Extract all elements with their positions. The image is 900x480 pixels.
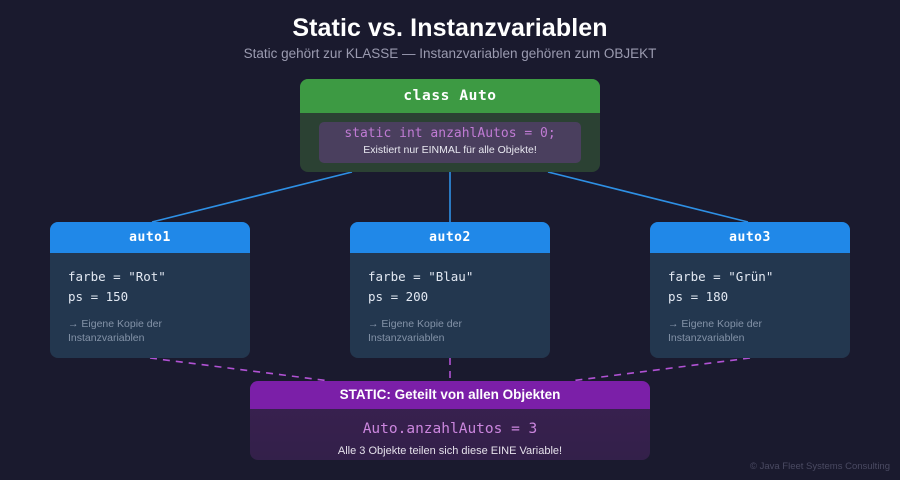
instance-field-farbe: farbe = "Blau" <box>368 267 550 287</box>
shared-static-box: STATIC: Geteilt von allen Objekten Auto.… <box>250 381 650 460</box>
connector-class-to-auto3 <box>548 172 748 222</box>
page-title: Static vs. Instanzvariablen <box>0 14 900 43</box>
instance-note: → Eigene Kopie der Instanzvariablen <box>68 318 218 345</box>
connector-class-to-auto1 <box>152 172 352 222</box>
instance-note: → Eigene Kopie der Instanzvariablen <box>368 318 518 345</box>
class-box: class Auto static int anzahlAutos = 0; E… <box>300 79 600 172</box>
instance-field-farbe: farbe = "Grün" <box>668 267 850 287</box>
instance-field-ps: ps = 180 <box>668 287 850 307</box>
instance-title-auto1: auto1 <box>50 222 250 253</box>
shared-static-title: STATIC: Geteilt von allen Objekten <box>250 381 650 409</box>
instance-field-farbe: farbe = "Rot" <box>68 267 250 287</box>
instance-note: → Eigene Kopie der Instanzvariablen <box>668 318 818 345</box>
instance-title-auto2: auto2 <box>350 222 550 253</box>
shared-static-note: Alle 3 Objekte teilen sich diese EINE Va… <box>250 445 650 457</box>
shared-static-value: Auto.anzahlAutos = 3 <box>250 421 650 437</box>
connector-auto3-to-static <box>570 358 750 381</box>
diagram-canvas: Static vs. Instanzvariablen Static gehör… <box>0 0 900 480</box>
instance-body-auto2: farbe = "Blau" ps = 200 → Eigene Kopie d… <box>350 253 550 345</box>
instance-body-auto3: farbe = "Grün" ps = 180 → Eigene Kopie d… <box>650 253 850 345</box>
footer-copyright: © Java Fleet Systems Consulting <box>750 461 890 472</box>
instance-title-auto3: auto3 <box>650 222 850 253</box>
static-variable-panel: static int anzahlAutos = 0; Existiert nu… <box>319 122 581 163</box>
static-declaration: static int anzahlAutos = 0; <box>319 125 581 142</box>
instance-field-ps: ps = 150 <box>68 287 250 307</box>
instance-field-ps: ps = 200 <box>368 287 550 307</box>
instance-body-auto1: farbe = "Rot" ps = 150 → Eigene Kopie de… <box>50 253 250 345</box>
page-subtitle: Static gehört zur KLASSE — Instanzvariab… <box>0 46 900 61</box>
instance-box-auto2: auto2 farbe = "Blau" ps = 200 → Eigene K… <box>350 222 550 358</box>
instance-box-auto1: auto1 farbe = "Rot" ps = 150 → Eigene Ko… <box>50 222 250 358</box>
static-declaration-note: Existiert nur EINMAL für alle Objekte! <box>319 142 581 158</box>
connector-auto1-to-static <box>150 358 330 381</box>
instance-box-auto3: auto3 farbe = "Grün" ps = 180 → Eigene K… <box>650 222 850 358</box>
class-box-title: class Auto <box>300 79 600 113</box>
